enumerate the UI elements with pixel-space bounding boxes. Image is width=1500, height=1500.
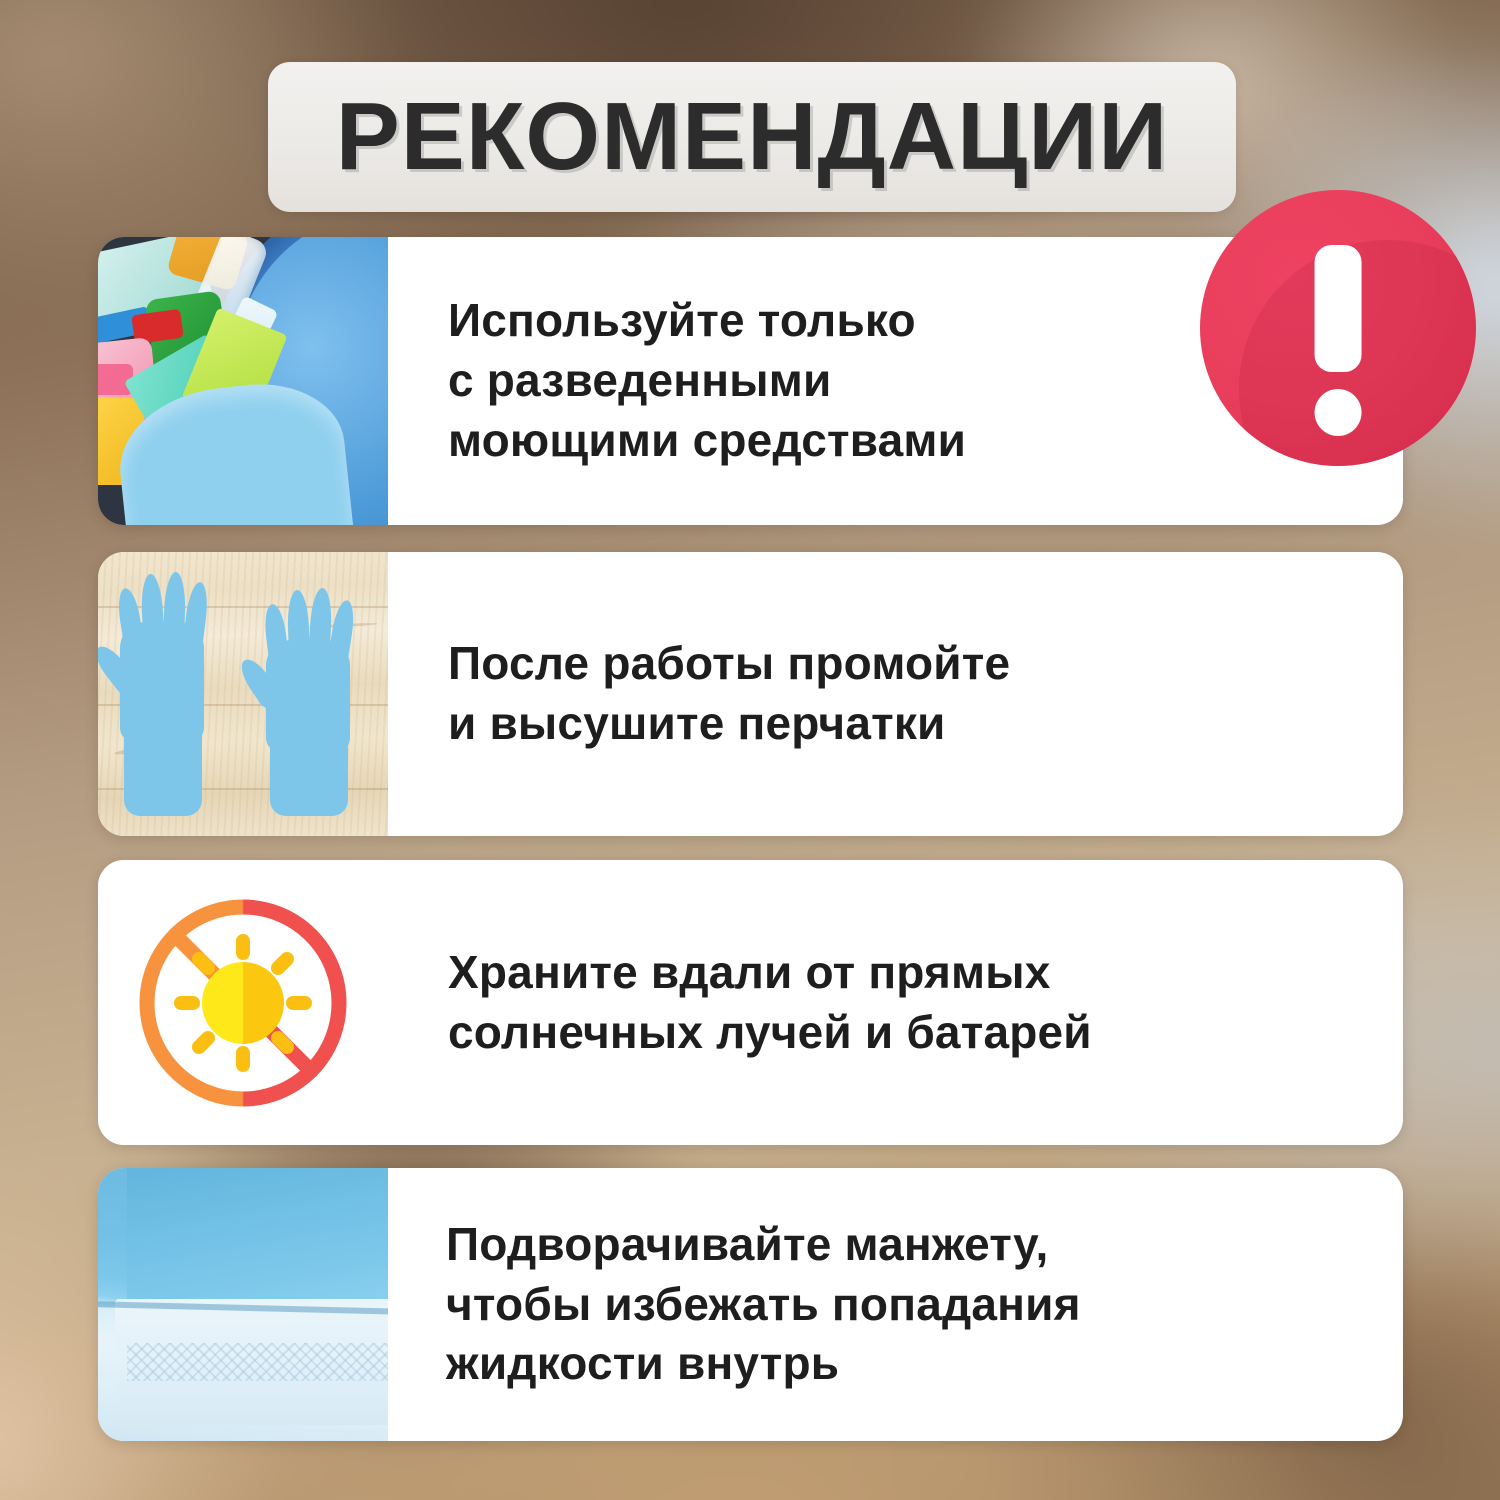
recommendation-card-2: После работы промойте и высушите перчатк… bbox=[98, 552, 1403, 836]
glove-finger bbox=[327, 599, 357, 667]
warning-exclamation-icon bbox=[1200, 190, 1476, 466]
card-4-image bbox=[98, 1168, 388, 1441]
card-4-body: Подворачивайте манжету, чтобы избежать п… bbox=[388, 1168, 1403, 1441]
exclamation-bar bbox=[1315, 245, 1362, 372]
card-1-line-2: с разведенными bbox=[448, 351, 966, 411]
glove-finger bbox=[182, 581, 210, 653]
glove-finger bbox=[140, 574, 165, 653]
page-title: РЕКОМЕНДАЦИИ bbox=[336, 89, 1169, 185]
card-2-image bbox=[98, 552, 388, 836]
card-4-line-1: Подворачивайте манжету, bbox=[446, 1215, 1081, 1275]
card-3-line-2: солнечных лучей и батарей bbox=[448, 1003, 1092, 1063]
no-sun-icon bbox=[133, 893, 353, 1113]
card-4-line-2: чтобы избежать попадания bbox=[446, 1275, 1081, 1335]
exclamation-dot bbox=[1315, 389, 1362, 436]
card-3-image bbox=[98, 860, 388, 1145]
card-1-image bbox=[98, 237, 388, 525]
card-1-text: Используйте только с разведенными моющим… bbox=[448, 291, 966, 470]
glove-finger bbox=[272, 458, 314, 525]
glove-cuff bbox=[270, 742, 348, 816]
glove-cuff-texture bbox=[127, 1343, 388, 1381]
glove-finger bbox=[182, 459, 234, 525]
card-1-line-3: моющими средствами bbox=[448, 411, 966, 471]
card-4-text: Подворачивайте манжету, чтобы избежать п… bbox=[446, 1215, 1081, 1394]
recommendation-card-3: Храните вдали от прямых солнечных лучей … bbox=[98, 860, 1403, 1145]
glove-finger bbox=[235, 457, 271, 525]
card-3-text: Храните вдали от прямых солнечных лучей … bbox=[448, 943, 1092, 1063]
card-3-line-1: Храните вдали от прямых bbox=[448, 943, 1092, 1003]
glove-finger bbox=[287, 590, 311, 667]
card-1-line-1: Используйте только bbox=[448, 291, 966, 351]
glove-upper-body bbox=[127, 1168, 388, 1310]
card-3-body: Храните вдали от прямых солнечных лучей … bbox=[388, 860, 1403, 1145]
card-2-line-1: После работы промойте bbox=[448, 634, 1010, 694]
glove-cuff bbox=[124, 730, 202, 816]
page-title-banner: РЕКОМЕНДАЦИИ bbox=[268, 62, 1236, 212]
card-2-body: После работы промойте и высушите перчатк… bbox=[388, 552, 1403, 836]
card-2-text: После работы промойте и высушите перчатк… bbox=[448, 634, 1010, 754]
glove-finger bbox=[134, 473, 194, 525]
recommendation-card-4: Подворачивайте манжету, чтобы избежать п… bbox=[98, 1168, 1403, 1441]
card-2-line-2: и высушите перчатки bbox=[448, 694, 1010, 754]
card-4-line-3: жидкости внутрь bbox=[446, 1334, 1081, 1394]
